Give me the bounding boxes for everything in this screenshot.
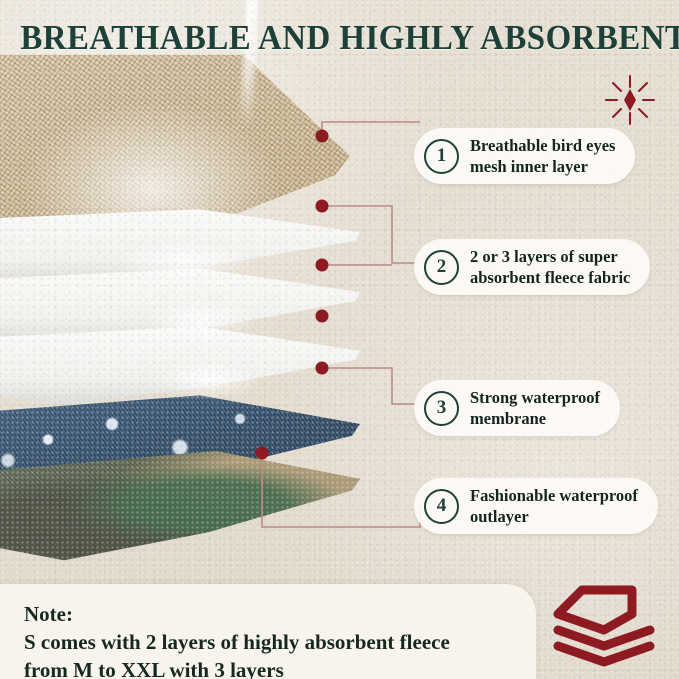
connector-lines xyxy=(0,0,679,679)
callout-4[interactable]: 4 Fashionable waterproof outlayer xyxy=(414,478,658,534)
callout-3-number: 3 xyxy=(424,391,459,426)
layer-dot-2a xyxy=(316,200,329,213)
layer-dot-2b xyxy=(316,259,329,272)
callout-1[interactable]: 1 Breathable bird eyes mesh inner layer xyxy=(414,128,635,184)
infographic-page: BREATHABLE AND HIGHLY ABSORBENT xyxy=(0,0,679,679)
layer-dot-3 xyxy=(316,362,329,375)
note-label: Note: xyxy=(24,601,450,628)
layer-dot-1 xyxy=(316,130,329,143)
note-panel: Note: S comes with 2 layers of highly ab… xyxy=(0,584,536,679)
callout-1-label: Breathable bird eyes mesh inner layer xyxy=(470,135,615,177)
callout-1-number: 1 xyxy=(424,139,459,174)
note-content: Note: S comes with 2 layers of highly ab… xyxy=(24,601,450,679)
callout-3[interactable]: 3 Strong waterproof membrane xyxy=(414,380,620,436)
callout-2[interactable]: 2 2 or 3 layers of super absorbent fleec… xyxy=(414,239,650,295)
note-body: S comes with 2 layers of highly absorben… xyxy=(24,628,450,679)
layer-dot-4 xyxy=(256,447,269,460)
callout-2-number: 2 xyxy=(424,250,459,285)
layers-stack-icon xyxy=(546,580,662,672)
callout-4-label: Fashionable waterproof outlayer xyxy=(470,485,638,527)
layer-dot-2c xyxy=(316,310,329,323)
callout-3-label: Strong waterproof membrane xyxy=(470,387,600,429)
callout-4-number: 4 xyxy=(424,489,459,524)
callout-2-label: 2 or 3 layers of super absorbent fleece … xyxy=(470,246,630,288)
